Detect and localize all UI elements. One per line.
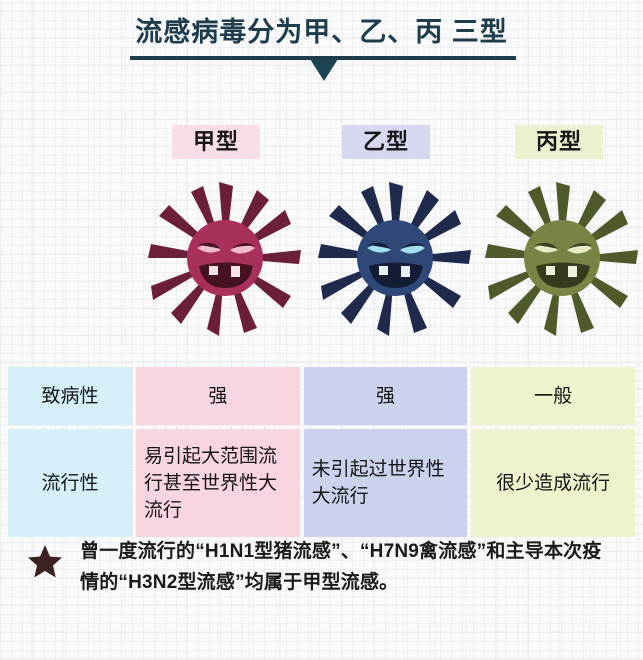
type-label-jia: 甲型 — [172, 125, 260, 159]
footnote: 曾一度流行的“H1N1型猪流感”、“H7N9禽流感”和主导本次疫情的“H3N2型… — [28, 536, 618, 598]
virus-icon-bing — [482, 178, 642, 338]
row-header-pathogenicity: 致病性 — [8, 367, 132, 425]
cell-epidemicity-yi: 未引起过世界性大流行 — [304, 429, 468, 537]
page-title: 流感病毒分为甲、乙、丙 三型 — [0, 14, 643, 50]
footnote-text: 曾一度流行的“H1N1型猪流感”、“H7N9禽流感”和主导本次疫情的“H3N2型… — [80, 536, 618, 598]
table-row: 致病性 强 强 一般 — [8, 367, 635, 425]
virus-icon-jia — [145, 178, 305, 338]
table-row: 流行性 易引起大范围流行甚至世界性大流行 未引起过世界性大流行 很少造成流行 — [8, 429, 635, 537]
page-title-text: 流感病毒分为甲、乙、丙 三型 — [135, 14, 508, 50]
virus-icon-yi — [315, 178, 475, 338]
star-icon — [28, 544, 62, 578]
cell-pathogenicity-bing: 一般 — [471, 367, 635, 425]
row-header-epidemicity: 流行性 — [8, 429, 132, 537]
cell-pathogenicity-yi: 强 — [304, 367, 468, 425]
infographic-page: 流感病毒分为甲、乙、丙 三型 甲型 乙型 丙型 — [0, 0, 643, 660]
type-label-bing: 丙型 — [515, 125, 603, 159]
cell-pathogenicity-jia: 强 — [136, 367, 300, 425]
type-label-yi: 乙型 — [342, 125, 430, 159]
cell-epidemicity-bing: 很少造成流行 — [471, 429, 635, 537]
triangle-down-icon — [310, 59, 338, 81]
comparison-table: 致病性 强 强 一般 流行性 易引起大范围流行甚至世界性大流行 未引起过世界性大… — [4, 363, 639, 541]
cell-epidemicity-jia: 易引起大范围流行甚至世界性大流行 — [136, 429, 300, 537]
